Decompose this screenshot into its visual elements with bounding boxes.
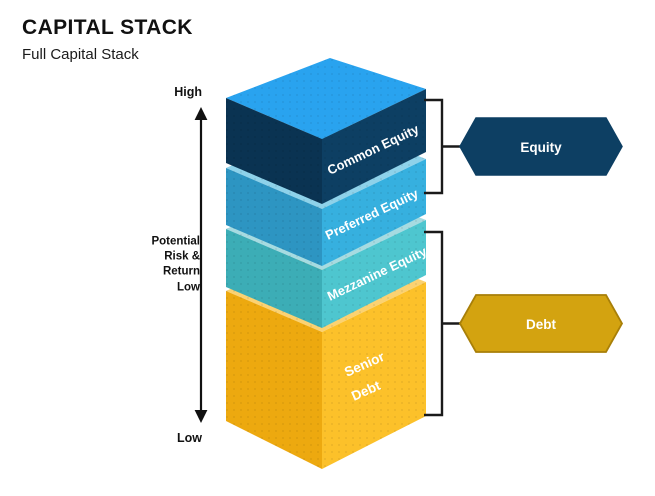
axis-caption-line-4: Low xyxy=(151,280,200,295)
risk-return-axis: High Low Potential Risk & Return Low xyxy=(120,85,230,445)
debt-bracket-left-icon xyxy=(424,232,442,415)
page-subtitle: Full Capital Stack xyxy=(22,47,193,64)
debt-callout[interactable]: Debt xyxy=(424,232,622,415)
axis-caption-line-3: Return xyxy=(151,265,200,280)
axis-label-low: Low xyxy=(177,431,202,445)
header: CAPITAL STACK Full Capital Stack xyxy=(22,16,193,64)
page-title: CAPITAL STACK xyxy=(22,16,193,39)
isometric-stack: Senior Debt Mezzanine Equity xyxy=(218,58,434,478)
capital-stack-diagram: CAPITAL STACK Full Capital Stack High Lo… xyxy=(0,0,655,496)
axis-caption-line-2: Risk & xyxy=(151,250,200,265)
equity-bracket-left-icon xyxy=(424,100,442,193)
equity-badge-label: Equity xyxy=(520,140,562,155)
axis-label-high: High xyxy=(174,85,202,99)
debt-badge-label: Debt xyxy=(526,317,557,332)
callout-group: Equity Debt xyxy=(420,60,655,480)
equity-callout[interactable]: Equity xyxy=(424,100,622,193)
axis-caption-line-1: Potential xyxy=(151,235,200,250)
axis-caption: Potential Risk & Return Low xyxy=(151,235,200,296)
